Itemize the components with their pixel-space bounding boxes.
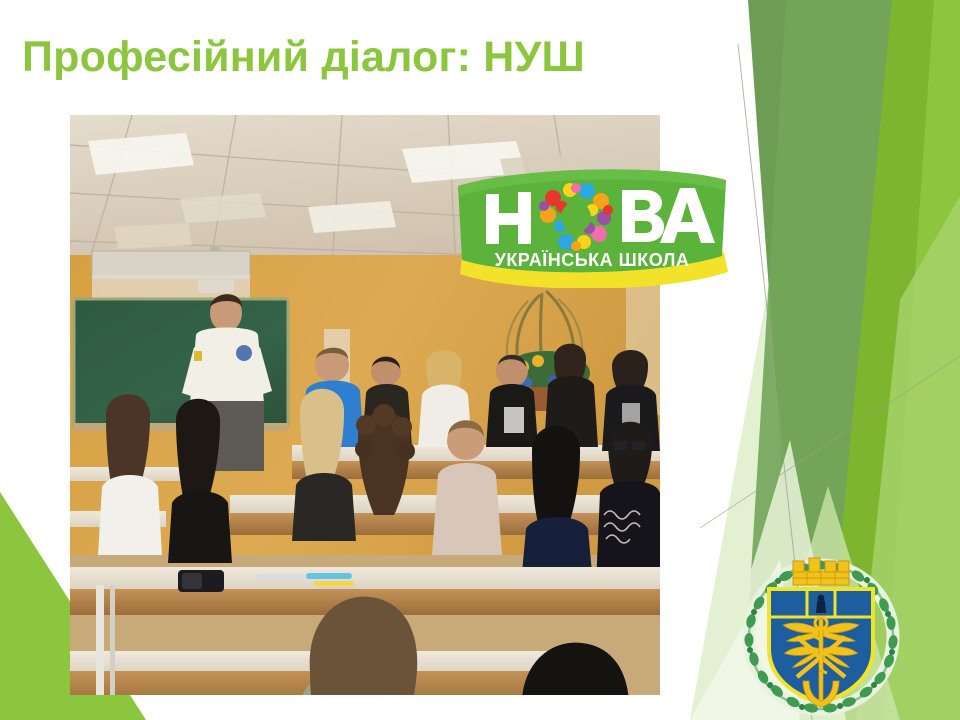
coat-of-arms-graphic bbox=[733, 545, 909, 720]
shield bbox=[769, 589, 873, 707]
coat-of-arms bbox=[733, 545, 909, 720]
slide-canvas: Професійний діалог: НУШ bbox=[0, 0, 960, 720]
nush-subtitle: УКРАЇНСЬКА ШКОЛА bbox=[495, 250, 690, 270]
hairline-diagonal-lower bbox=[700, 356, 960, 528]
slide-title: Професійний діалог: НУШ bbox=[22, 34, 722, 81]
nush-logo-graphic: УКРАЇНСЬКА ШКОЛА bbox=[452, 160, 732, 288]
nush-logo: УКРАЇНСЬКА ШКОЛА bbox=[452, 160, 732, 288]
